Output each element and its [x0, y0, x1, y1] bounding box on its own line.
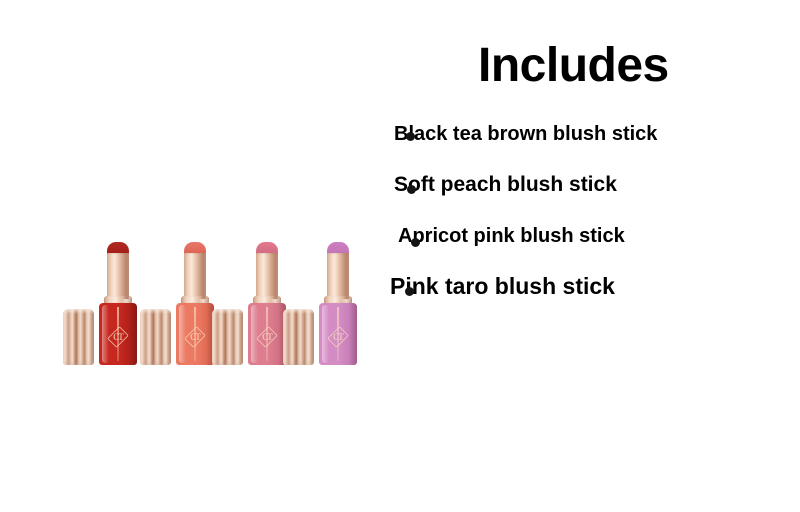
- include-item-label: Apricot pink blush stick: [398, 225, 625, 247]
- list-item: Pink taro blush stick: [390, 273, 615, 300]
- product-photo: CT CT: [55, 240, 365, 380]
- blush-stick-apricot-pink: CT: [212, 240, 294, 365]
- blush-stick-black-tea-brown: CT: [63, 240, 145, 365]
- blush-stick-body-group: CT: [99, 240, 137, 365]
- list-item: Soft peach blush stick: [394, 173, 617, 197]
- blush-twist-tube: [184, 253, 206, 299]
- blush-stick-soft-peach: CT: [140, 240, 222, 365]
- blush-stick-body-group: CT: [248, 240, 286, 365]
- blush-twist-tube: [256, 253, 278, 299]
- page-title: Includes: [478, 42, 669, 90]
- blush-barrel: CT: [176, 303, 214, 365]
- blush-twist-tube: [107, 253, 129, 299]
- blush-stick-body-group: CT: [176, 240, 214, 365]
- blush-stick-body-group: CT: [319, 240, 357, 365]
- blush-barrel: CT: [319, 303, 357, 365]
- includes-panel: Includes Black tea brown blush stick Sof…: [380, 20, 790, 320]
- include-item-label: Soft peach blush stick: [394, 173, 617, 196]
- include-item-label: Pink taro blush stick: [390, 273, 615, 299]
- blush-cap: [140, 309, 171, 365]
- blush-cap: [283, 309, 314, 365]
- blush-barrel: CT: [99, 303, 137, 365]
- brand-emblem-icon: CT: [109, 325, 127, 349]
- blush-stick-pink-taro: CT: [283, 240, 365, 365]
- blush-barrel: CT: [248, 303, 286, 365]
- brand-emblem-icon: CT: [329, 325, 347, 349]
- blush-cap: [212, 309, 243, 365]
- list-item: Apricot pink blush stick: [398, 225, 625, 248]
- blush-cap: [63, 309, 94, 365]
- blush-twist-tube: [327, 253, 349, 299]
- include-item-label: Black tea brown blush stick: [394, 123, 657, 145]
- brand-emblem-icon: CT: [186, 325, 204, 349]
- brand-emblem-icon: CT: [258, 325, 276, 349]
- list-item: Black tea brown blush stick: [394, 123, 657, 146]
